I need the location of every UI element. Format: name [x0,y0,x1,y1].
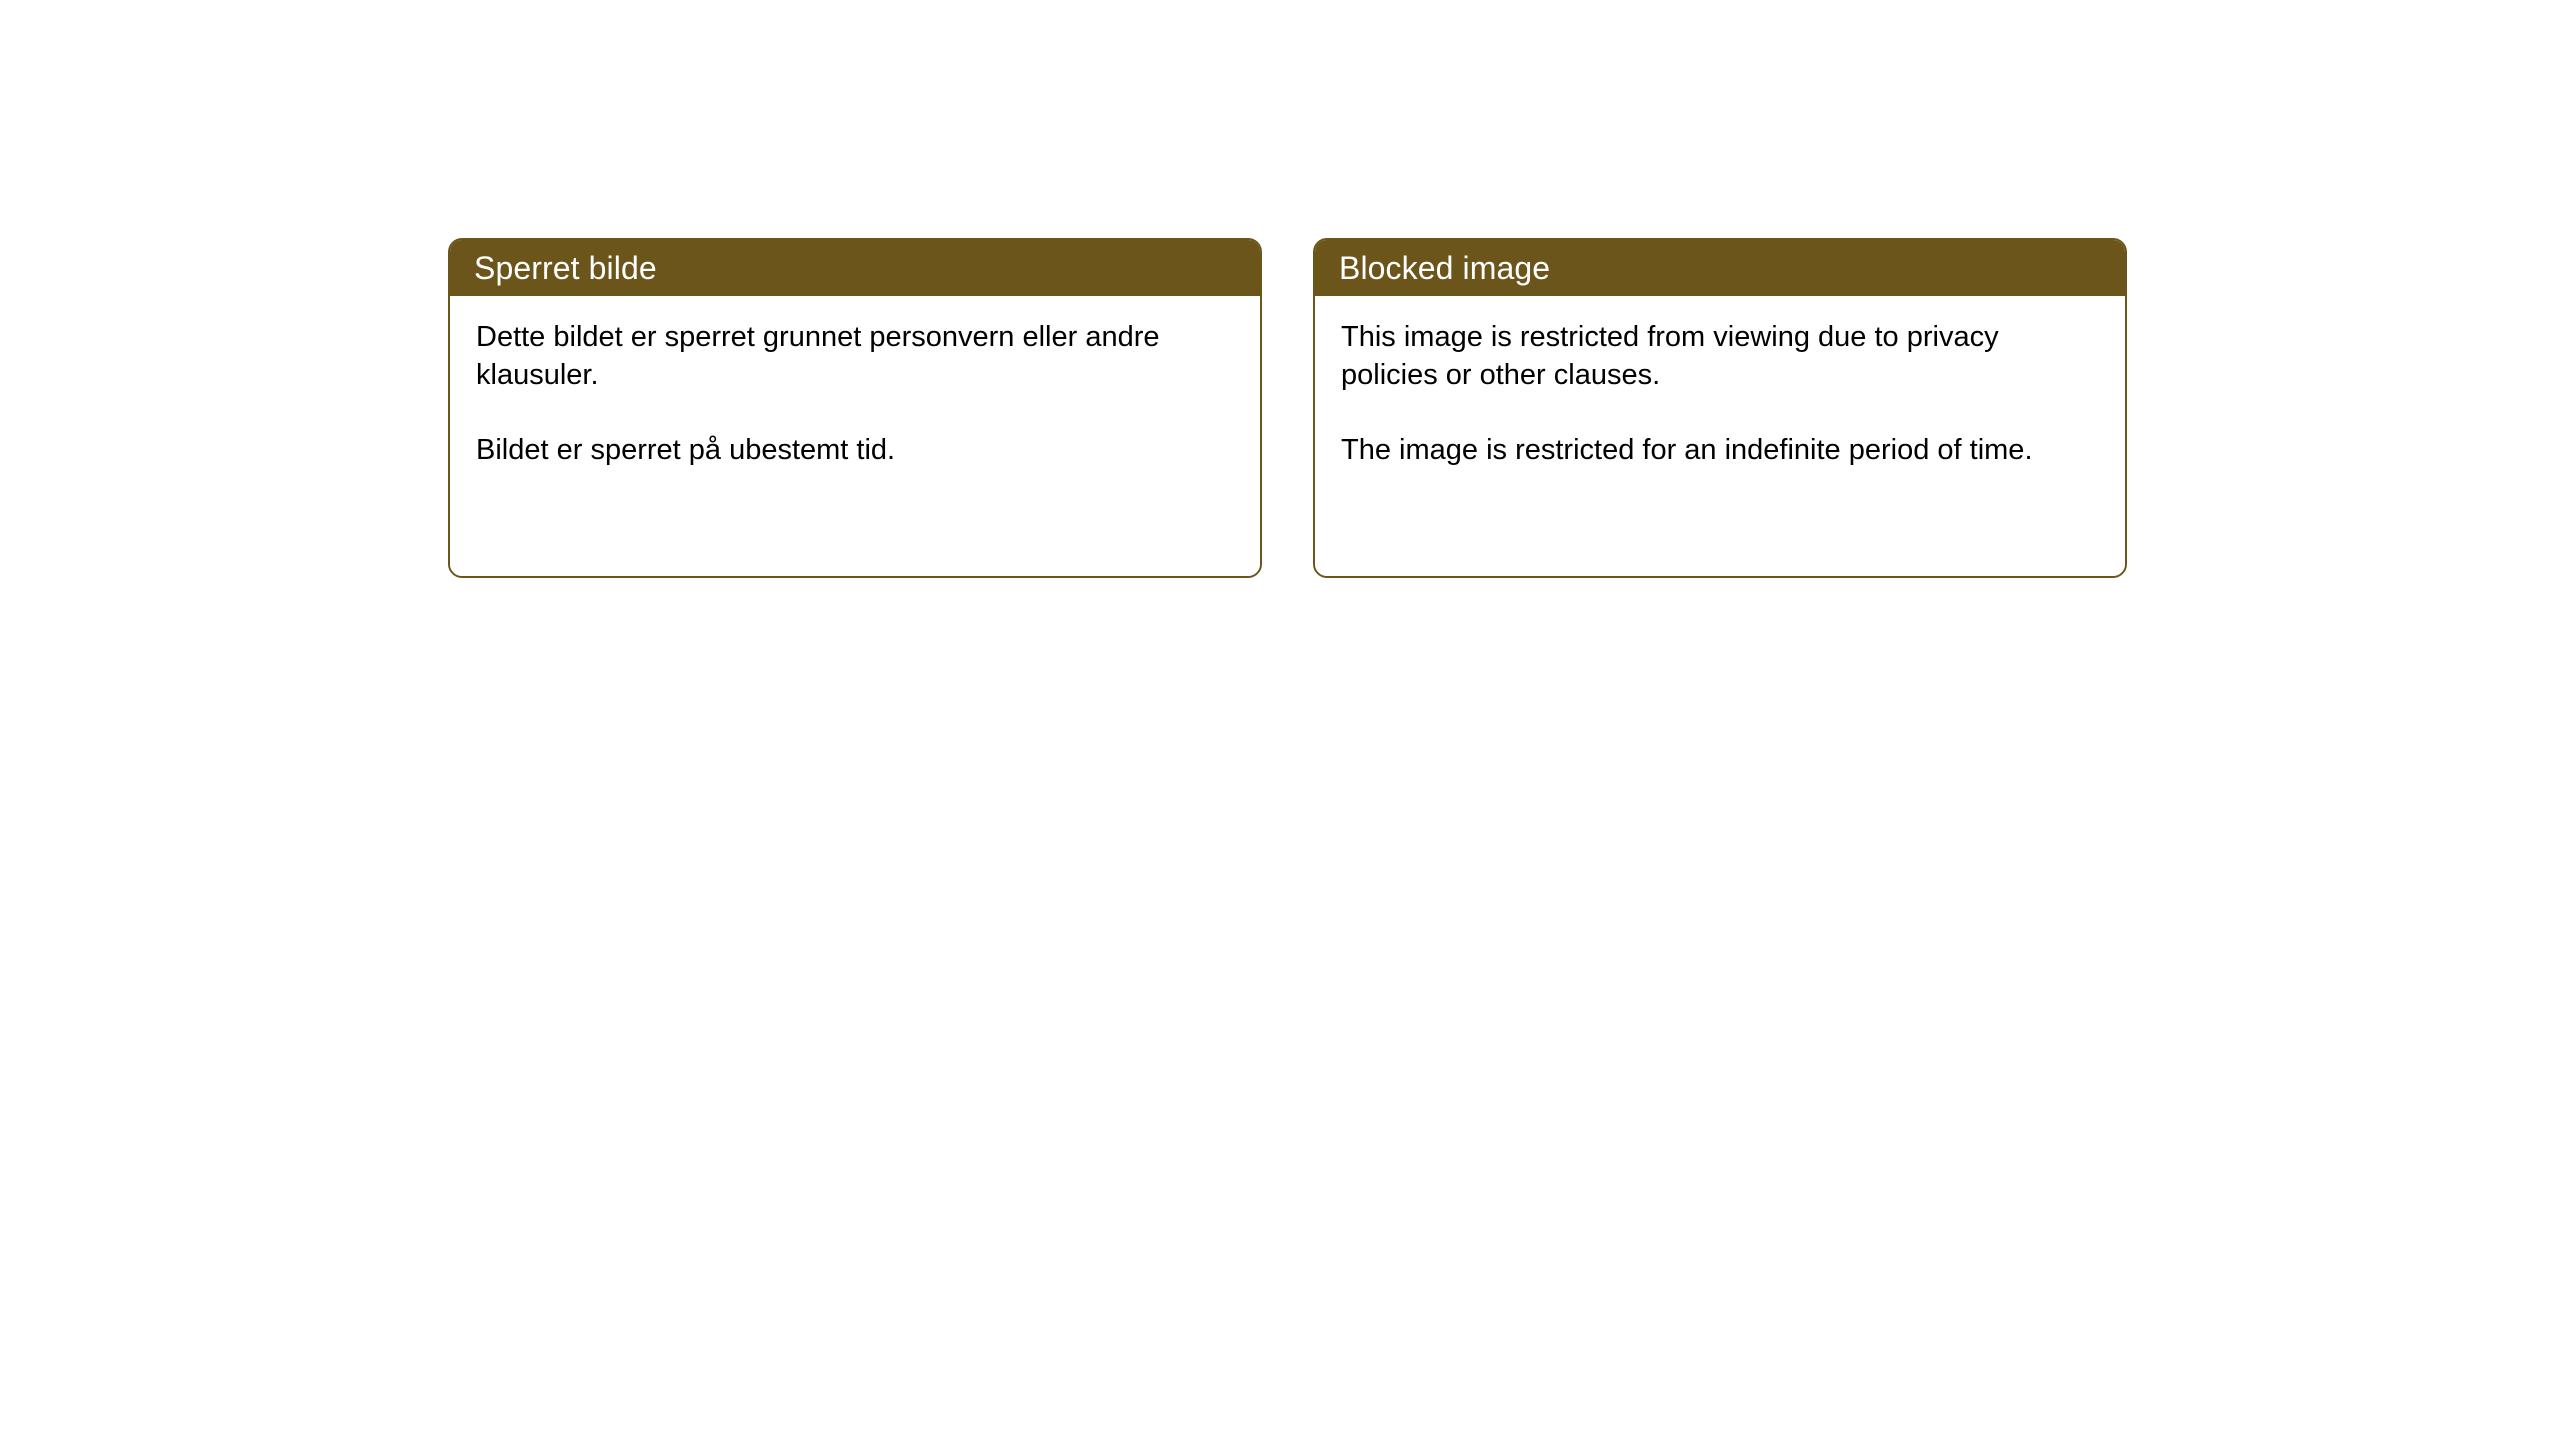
paragraph-spacer-norwegian [476,395,1234,431]
notice-cards-container: Sperret bilde Dette bildet er sperret gr… [448,238,2127,578]
paragraph-spacer-english [1341,395,2099,431]
card-paragraph-primary-english: This image is restricted from viewing du… [1341,318,2099,395]
page-root: { "page": { "background_color": "#ffffff… [0,0,2560,1440]
card-title-norwegian: Sperret bilde [474,252,657,284]
card-body-norwegian: Dette bildet er sperret grunnet personve… [450,296,1260,576]
card-paragraph-primary-norwegian: Dette bildet er sperret grunnet personve… [476,318,1234,395]
card-header-norwegian: Sperret bilde [450,240,1260,296]
card-paragraph-secondary-english: The image is restricted for an indefinit… [1341,431,2099,469]
blocked-image-card-norwegian: Sperret bilde Dette bildet er sperret gr… [448,238,1262,578]
blocked-image-card-english: Blocked image This image is restricted f… [1313,238,2127,578]
card-title-english: Blocked image [1339,252,1550,284]
card-header-english: Blocked image [1315,240,2125,296]
card-body-english: This image is restricted from viewing du… [1315,296,2125,576]
card-paragraph-secondary-norwegian: Bildet er sperret på ubestemt tid. [476,431,1234,469]
